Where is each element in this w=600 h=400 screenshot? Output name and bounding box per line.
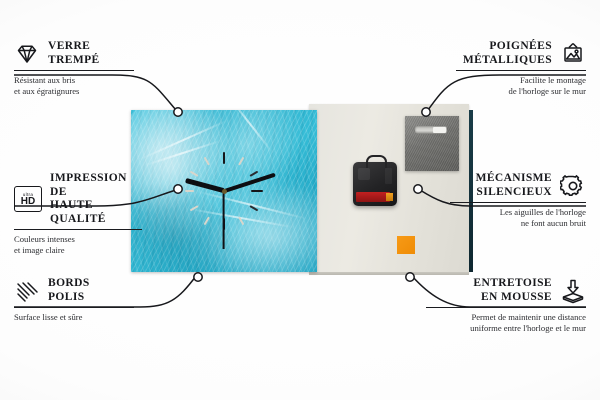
feature-title: IMPRESSION DE HAUTE QUALITÉ (50, 172, 142, 226)
divider (14, 70, 134, 71)
picture-frame-hanger-icon (560, 41, 586, 67)
diamond-icon (14, 41, 40, 67)
divider (456, 70, 586, 71)
arrow-press-pad-icon (560, 278, 586, 304)
divider (14, 229, 142, 230)
feature-title: ENTRETOISE EN MOUSSE (473, 277, 552, 304)
feature-header: POIGNÉES MÉTALLIQUES (456, 40, 586, 67)
feature-header: ultra HD IMPRESSION DE HAUTE QUALITÉ (14, 172, 142, 226)
feature-mecanisme-silencieux: MÉCANISME SILENCIEUX Les aiguilles de l'… (450, 172, 586, 229)
feature-header: MÉCANISME SILENCIEUX (450, 172, 586, 199)
feature-header: BORDS POLIS (14, 277, 134, 304)
feature-entretoise-mousse: ENTRETOISE EN MOUSSE Permet de maintenir… (426, 277, 586, 334)
gear-icon (560, 173, 586, 199)
feature-header: VERRE TREMPÉ (14, 40, 134, 67)
feature-verre-trempe: VERRE TREMPÉ Résistant aux bris et aux é… (14, 40, 134, 97)
divider (450, 202, 586, 203)
feature-bords-polis: BORDS POLIS Surface lisse et sûre (14, 277, 134, 323)
divider (426, 307, 586, 308)
infographic-stage: VERRE TREMPÉ Résistant aux bris et aux é… (0, 0, 600, 400)
feature-title: VERRE TREMPÉ (48, 40, 100, 67)
divider (14, 307, 134, 308)
feature-poignees-metalliques: POIGNÉES MÉTALLIQUES Facilite le montage… (456, 40, 586, 97)
feature-title: BORDS POLIS (48, 277, 90, 304)
feature-title: POIGNÉES MÉTALLIQUES (463, 40, 552, 67)
feature-impression-hd: ultra HD IMPRESSION DE HAUTE QUALITÉ Cou… (14, 172, 142, 256)
feature-header: ENTRETOISE EN MOUSSE (426, 277, 586, 304)
feature-title: MÉCANISME SILENCIEUX (476, 172, 552, 199)
polished-edge-icon (14, 278, 40, 304)
ultra-hd-badge-icon: ultra HD (14, 186, 42, 212)
